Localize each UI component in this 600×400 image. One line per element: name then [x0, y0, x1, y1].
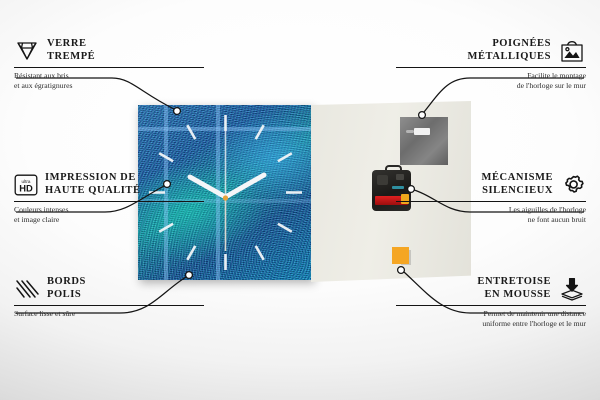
- callout-subtitle: Résistant aux bris et aux égratignures: [14, 71, 204, 91]
- callout-header: BORDS POLIS: [14, 276, 204, 302]
- callout-title-line2: SILENCIEUX: [482, 185, 553, 198]
- foam-spacer-icon: [558, 277, 586, 301]
- gear-icon: [560, 173, 586, 197]
- callout-title-line1: VERRE: [47, 38, 95, 51]
- callout-subtitle: Permet de maintenir une distance uniform…: [396, 309, 586, 329]
- callout-divider: [396, 305, 586, 306]
- callout-sub-line2: et image claire: [14, 215, 204, 225]
- callout-divider: [14, 67, 204, 68]
- leader-dot-verre: [174, 108, 181, 115]
- callout-sub-line1: Couleurs intenses: [14, 205, 204, 215]
- polished-edges-icon: [14, 278, 40, 300]
- callout-header: VERRE TREMPÉ: [14, 38, 204, 64]
- leader-dot-entretoise: [398, 267, 405, 274]
- callout-header: ultra HD IMPRESSION DE HAUTE QUALITÉ: [14, 172, 204, 198]
- callout-sub-line1: Facilite le montage: [396, 71, 586, 81]
- diamond-icon: [14, 40, 40, 62]
- callout-divider: [396, 201, 586, 202]
- callout-header: MÉCANISME SILENCIEUX: [396, 172, 586, 198]
- callout-title: IMPRESSION DE HAUTE QUALITÉ: [45, 172, 141, 198]
- callout-sub-line1: Résistant aux bris: [14, 71, 204, 81]
- ultra-hd-icon-main-text: HD: [19, 182, 33, 193]
- callout-divider: [14, 201, 204, 202]
- callout-bords-polis: BORDS POLIS Surface lisse et sûre: [14, 276, 204, 319]
- callout-entretoise-en-mousse: ENTRETOISE EN MOUSSE Permet de maintenir…: [396, 276, 586, 329]
- callout-verre-trempe: VERRE TREMPÉ Résistant aux bris et aux é…: [14, 38, 204, 91]
- callout-title-line2: EN MOUSSE: [477, 289, 551, 302]
- callout-sub-line2: uniforme entre l'horloge et le mur: [396, 319, 586, 329]
- callout-poignees-metalliques: POIGNÉES MÉTALLIQUES Facilite le montage…: [396, 38, 586, 91]
- callout-divider: [14, 305, 204, 306]
- callout-header: POIGNÉES MÉTALLIQUES: [396, 38, 586, 64]
- callout-divider: [396, 67, 586, 68]
- callout-sub-line2: ne font aucun bruit: [396, 215, 586, 225]
- callout-subtitle: Les aiguilles de l'horloge ne font aucun…: [396, 205, 586, 225]
- callout-title: MÉCANISME SILENCIEUX: [482, 172, 553, 198]
- callout-title-line1: MÉCANISME: [482, 172, 553, 185]
- callout-subtitle: Facilite le montage de l'horloge sur le …: [396, 71, 586, 91]
- callout-sub-line1: Permet de maintenir une distance: [396, 309, 586, 319]
- callout-title-line2: POLIS: [47, 289, 86, 302]
- callout-mecanisme-silencieux: MÉCANISME SILENCIEUX Les aiguilles de l'…: [396, 172, 586, 225]
- callout-sub-line2: de l'horloge sur le mur: [396, 81, 586, 91]
- picture-hanger-icon: [558, 39, 586, 63]
- callout-title-line1: POIGNÉES: [468, 38, 551, 51]
- callout-title-line1: BORDS: [47, 276, 86, 289]
- callout-title-line2: HAUTE QUALITÉ: [45, 185, 141, 198]
- callout-subtitle: Couleurs intenses et image claire: [14, 205, 204, 225]
- callout-title: BORDS POLIS: [47, 276, 86, 302]
- callout-title: POIGNÉES MÉTALLIQUES: [468, 38, 551, 64]
- callout-subtitle: Surface lisse et sûre: [14, 309, 204, 319]
- callout-sub-line1: Surface lisse et sûre: [14, 309, 204, 319]
- callout-sub-line1: Les aiguilles de l'horloge: [396, 205, 586, 215]
- callout-title-line2: TREMPÉ: [47, 51, 95, 64]
- callout-title-line2: MÉTALLIQUES: [468, 51, 551, 64]
- leader-dot-poignees: [419, 112, 426, 119]
- ultra-hd-icon: ultra HD: [14, 174, 38, 196]
- callout-title-line1: IMPRESSION DE: [45, 172, 141, 185]
- callout-impression-haute-qualite: ultra HD IMPRESSION DE HAUTE QUALITÉ Cou…: [14, 172, 204, 225]
- callout-title: ENTRETOISE EN MOUSSE: [477, 276, 551, 302]
- callout-title-line1: ENTRETOISE: [477, 276, 551, 289]
- callout-header: ENTRETOISE EN MOUSSE: [396, 276, 586, 302]
- infographic-canvas: VERRE TREMPÉ Résistant aux bris et aux é…: [0, 0, 600, 400]
- callout-sub-line2: et aux égratignures: [14, 81, 204, 91]
- callout-title: VERRE TREMPÉ: [47, 38, 95, 64]
